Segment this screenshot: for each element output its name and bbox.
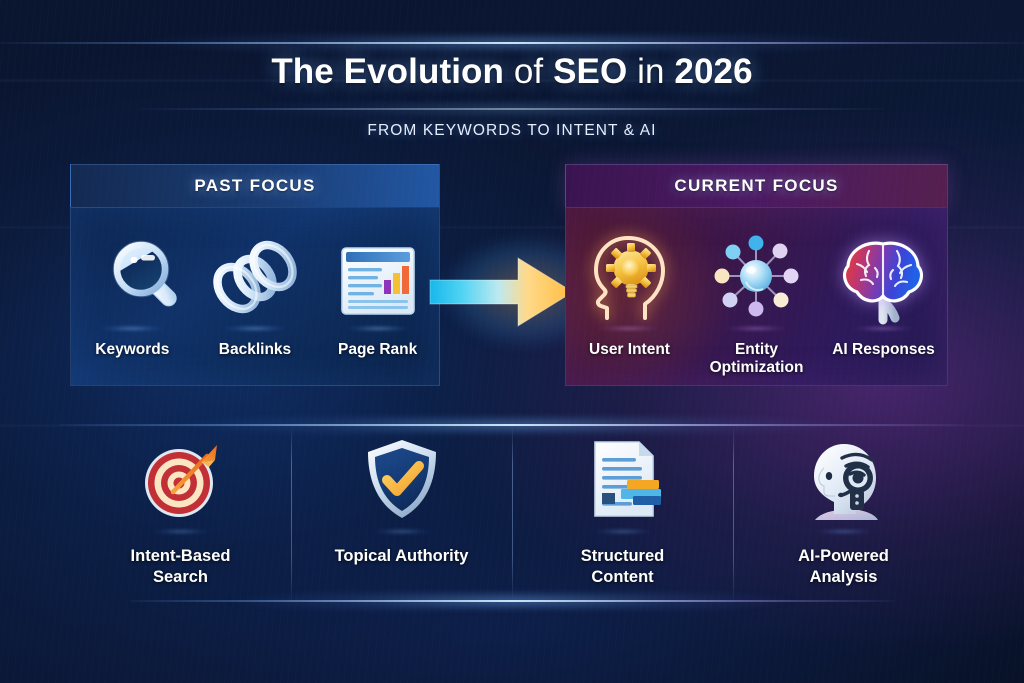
current-focus-header: CURRENT FOCUS bbox=[565, 164, 948, 207]
title-segment-1: The Evolution bbox=[271, 52, 504, 91]
brain-icon bbox=[820, 230, 947, 322]
feature-label-intent-based-search: Intent-BasedSearch bbox=[70, 546, 291, 587]
current-item-entity-optimization[interactable]: Entity Optimization bbox=[693, 230, 820, 377]
feature-label-structured-content: StructuredContent bbox=[512, 546, 733, 587]
past-focus-heading-label: PAST FOCUS bbox=[194, 176, 315, 196]
title-block: The Evolution of SEO in 2026 bbox=[0, 52, 1024, 92]
feature-label-ai-powered-analysis: AI-PoweredAnalysis bbox=[733, 546, 954, 587]
icon-shadow bbox=[840, 325, 926, 332]
target-dart-icon bbox=[70, 432, 291, 524]
feature-ai-powered-analysis[interactable]: AI-PoweredAnalysis bbox=[733, 432, 954, 594]
magnifying-glass-icon bbox=[71, 230, 194, 322]
feature-row: Intent-BasedSearch bbox=[70, 432, 954, 594]
network-nodes-icon bbox=[693, 230, 820, 322]
current-item-user-intent[interactable]: User Intent bbox=[566, 230, 693, 359]
past-item-backlinks[interactable]: Backlinks bbox=[194, 230, 317, 359]
ai-robot-head-icon bbox=[733, 432, 954, 524]
current-item-label-user-intent: User Intent bbox=[566, 341, 693, 359]
current-item-ai-responses[interactable]: AI Responses bbox=[820, 230, 947, 359]
past-focus-header: PAST FOCUS bbox=[70, 164, 440, 207]
icon-shadow bbox=[584, 528, 662, 535]
past-item-label-backlinks: Backlinks bbox=[194, 341, 317, 359]
current-item-label-ai-responses: AI Responses bbox=[820, 341, 947, 359]
title-segment-2: of bbox=[514, 52, 543, 91]
icon-shadow bbox=[212, 325, 298, 332]
icon-shadow bbox=[363, 528, 441, 535]
subtitle-divider-glow bbox=[140, 108, 884, 110]
page-subtitle: FROM KEYWORDS TO INTENT & AI bbox=[0, 122, 1024, 140]
past-focus-panel: PAST FOCUS bbox=[70, 164, 440, 386]
current-focus-panel: CURRENT FOCUS bbox=[565, 164, 948, 386]
past-item-keywords[interactable]: Keywords bbox=[71, 230, 194, 359]
title-segment-4: in bbox=[637, 52, 664, 91]
feature-structured-content[interactable]: StructuredContent bbox=[512, 432, 733, 594]
structured-document-icon bbox=[512, 432, 733, 524]
icon-shadow bbox=[586, 325, 672, 332]
feature-intent-based-search[interactable]: Intent-BasedSearch bbox=[70, 432, 291, 594]
page-title: The Evolution of SEO in 2026 bbox=[0, 52, 1024, 92]
icon-shadow bbox=[142, 528, 220, 535]
infographic-canvas: The Evolution of SEO in 2026 FROM KEYWOR… bbox=[0, 0, 1024, 683]
top-divider-glow bbox=[0, 42, 1024, 44]
title-segment-5: 2026 bbox=[674, 52, 752, 91]
right-arrow-icon bbox=[430, 250, 575, 334]
past-focus-body: Keywords bbox=[70, 207, 440, 386]
current-focus-heading-label: CURRENT FOCUS bbox=[674, 176, 838, 196]
head-gear-bulb-icon bbox=[566, 230, 693, 322]
icon-shadow bbox=[89, 325, 175, 332]
past-item-label-keywords: Keywords bbox=[71, 341, 194, 359]
title-segment-3: SEO bbox=[553, 52, 627, 91]
chain-link-icon bbox=[194, 230, 317, 322]
current-focus-body: User Intent bbox=[565, 207, 948, 386]
feature-label-topical-authority: Topical Authority bbox=[291, 546, 512, 567]
icon-shadow bbox=[713, 325, 799, 332]
shield-check-icon bbox=[291, 432, 512, 524]
icon-shadow bbox=[805, 528, 883, 535]
feature-topical-authority[interactable]: Topical Authority bbox=[291, 432, 512, 594]
current-item-label-entity-optimization: Entity Optimization bbox=[693, 341, 820, 377]
